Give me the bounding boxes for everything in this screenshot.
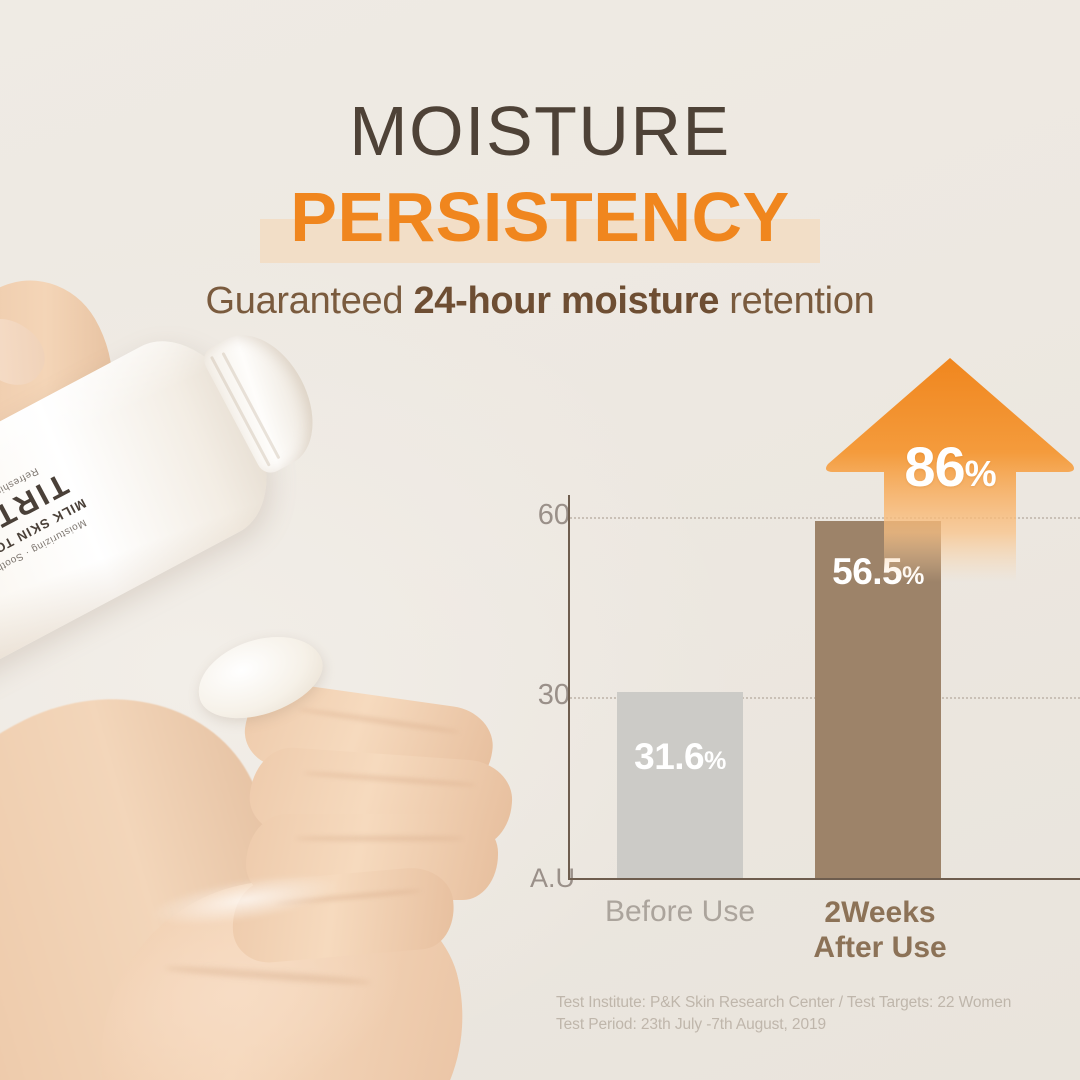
increase-number: 86 <box>904 435 964 498</box>
bar-before-use: 31.6% <box>617 692 743 878</box>
headline-line-2: PERSISTENCY <box>0 182 1080 252</box>
subtitle-suffix: retention <box>719 280 874 322</box>
subtitle: Guaranteed 24-hour moisture retention <box>0 280 1080 323</box>
y-axis-tick-60: 60 <box>450 499 570 532</box>
subtitle-emphasis: 24-hour moisture <box>413 280 719 322</box>
y-axis-tick-30: 30 <box>450 679 570 712</box>
infographic-canvas: Moisturizing · Soothing MILK SKIN TONER … <box>0 0 1080 1080</box>
headline-block: MOISTURE PERSISTENCY Guaranteed 24-hour … <box>0 0 1080 323</box>
study-footnote: Test Institute: P&K Skin Research Center… <box>556 992 1066 1037</box>
headline-line-1: MOISTURE <box>0 96 1080 166</box>
bar-before-value: 31.6% <box>617 736 743 778</box>
subtitle-prefix: Guaranteed <box>205 280 413 322</box>
x-axis-line <box>568 878 1080 880</box>
increase-percentage: 86% <box>820 434 1080 499</box>
headline-line-2-wrapper: PERSISTENCY <box>0 182 1080 254</box>
increase-unit: % <box>965 453 996 494</box>
x-axis-label-after: 2Weeks After Use <box>762 895 998 966</box>
y-axis-unit: A.U <box>455 863 575 894</box>
y-axis-line <box>568 495 570 880</box>
x-axis-label-after-line1: 2Weeks <box>762 895 998 930</box>
bar-before-unit: % <box>704 747 726 775</box>
increase-badge: 86% <box>820 352 1080 582</box>
bar-before-number: 31.6 <box>634 736 704 777</box>
footnote-line-1: Test Institute: P&K Skin Research Center… <box>556 992 1066 1014</box>
footnote-line-2: Test Period: 23th July -7th August, 2019 <box>556 1014 1066 1036</box>
x-axis-label-after-line2: After Use <box>762 930 998 965</box>
